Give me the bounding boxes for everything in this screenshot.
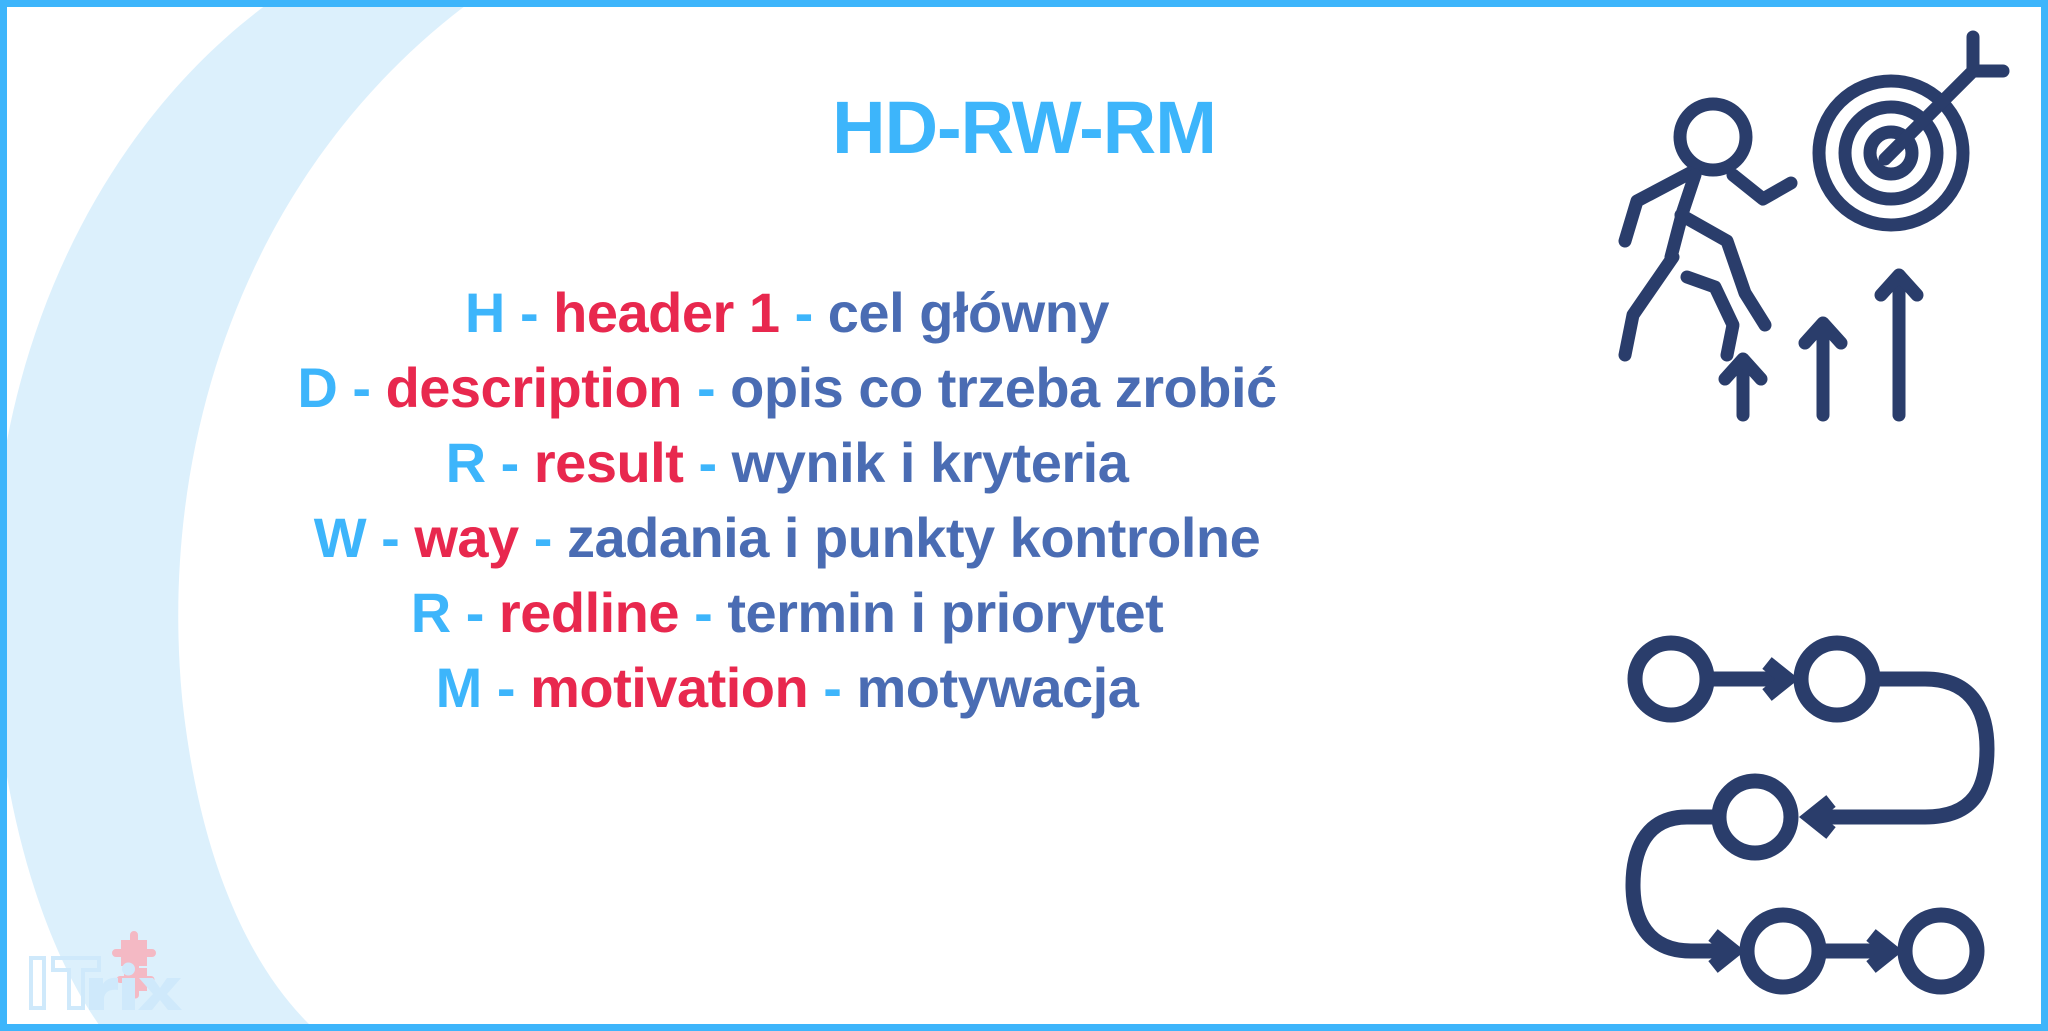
growth-arrow-small <box>1725 359 1761 415</box>
growth-arrow-large <box>1881 275 1917 415</box>
acronym-english: redline <box>499 581 679 644</box>
acronym-letter: W <box>314 506 366 569</box>
separator-dash: - <box>466 581 484 644</box>
acronym-letter: D <box>297 356 337 419</box>
acronym-english: header 1 <box>553 281 779 344</box>
separator-dash: - <box>534 506 552 569</box>
list-item: R - result - wynik i kryteria <box>7 425 1567 500</box>
list-item: R - redline - termin i priorytet <box>7 575 1567 650</box>
acronym-english: motivation <box>530 656 808 719</box>
acronym-letter: M <box>436 656 482 719</box>
list-item: M - motivation - motywacja <box>7 650 1567 725</box>
acronym-letter: R <box>411 581 451 644</box>
flow-connector <box>1813 679 1987 817</box>
acronym-polish: zadania i punkty kontrolne <box>567 506 1260 569</box>
separator-dash: - <box>381 506 399 569</box>
flow-node <box>1905 915 1977 987</box>
separator-dash: - <box>520 281 538 344</box>
infographic-canvas: HD-RW-RM H - header 1 - cel główny D - d… <box>0 0 2048 1031</box>
separator-dash: - <box>795 281 813 344</box>
separator-dash: - <box>501 431 519 494</box>
acronym-letter: H <box>465 281 505 344</box>
acronym-polish: wynik i kryteria <box>732 431 1129 494</box>
acronym-letter: R <box>446 431 486 494</box>
itrix-logo <box>25 928 185 1016</box>
logo-it-outline <box>31 958 99 1008</box>
separator-dash: - <box>823 656 841 719</box>
list-item: H - header 1 - cel główny <box>7 275 1567 350</box>
separator-dash: - <box>698 431 716 494</box>
acronym-list: H - header 1 - cel główny D - descriptio… <box>7 275 1567 725</box>
acronym-polish: termin i priorytet <box>727 581 1163 644</box>
acronym-polish: opis co trzeba zrobić <box>730 356 1277 419</box>
separator-dash: - <box>694 581 712 644</box>
list-item: W - way - zadania i punkty kontrolne <box>7 500 1567 575</box>
flow-node <box>1747 915 1819 987</box>
page-title: HD-RW-RM <box>7 85 2041 170</box>
acronym-polish: motywacja <box>857 656 1139 719</box>
acronym-english: description <box>386 356 682 419</box>
acronym-english: way <box>414 506 518 569</box>
growth-arrow-medium <box>1805 323 1841 415</box>
target-arrow-fletch <box>1973 37 2003 71</box>
list-item: D - description - opis co trzeba zrobić <box>7 350 1567 425</box>
separator-dash: - <box>497 656 515 719</box>
workflow-process-flow-icon <box>1615 619 2035 1009</box>
flow-node <box>1801 643 1873 715</box>
flow-node <box>1635 643 1707 715</box>
separator-dash: - <box>697 356 715 419</box>
acronym-english: result <box>534 431 684 494</box>
acronym-polish: cel główny <box>828 281 1109 344</box>
flow-node <box>1719 781 1791 853</box>
separator-dash: - <box>352 356 370 419</box>
